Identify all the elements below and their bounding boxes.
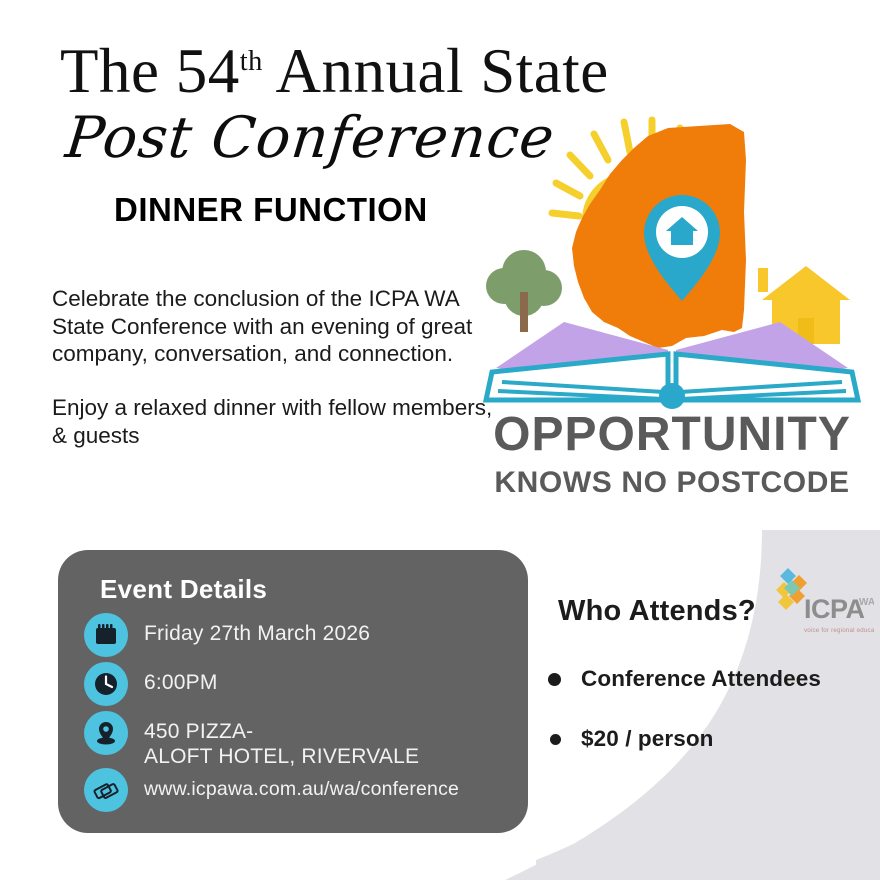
headline-block: The 54th Annual State Post Conference DI… (60, 38, 609, 229)
icpa-tagline: voice for regional education (804, 627, 874, 634)
bullet-icon (550, 734, 561, 745)
event-detail-row-link[interactable]: www.icpawa.com.au/wa/conference (84, 768, 502, 814)
who-attends-label-1: $20 / person (581, 726, 714, 752)
hero-tagline-line2: KNOWS NO POSTCODE (494, 466, 849, 499)
clock-icon (84, 662, 128, 706)
location-pin-icon (84, 711, 128, 755)
event-details-title: Event Details (100, 574, 502, 605)
who-attends-item-1: $20 / person (548, 726, 858, 752)
event-detail-row-date: Friday 27th March 2026 (84, 613, 502, 659)
who-attends-item-0: Conference Attendees (548, 666, 858, 692)
event-detail-row-location: 450 PIZZA- ALOFT HOTEL, RIVERVALE (84, 711, 502, 768)
title-line-dinner-function: DINNER FUNCTION (114, 191, 609, 229)
tickets-icon (84, 768, 128, 812)
title-ordinal-suffix: th (240, 46, 263, 77)
bullet-icon (548, 673, 561, 686)
title-prefix: The 54 (60, 36, 240, 106)
body-paragraph-2: Enjoy a relaxed dinner with fellow membe… (52, 394, 504, 449)
poster-canvas: The 54th Annual State Post Conference DI… (0, 0, 880, 880)
title-suffix: Annual State (263, 36, 609, 106)
event-detail-location-line1: 450 PIZZA- (144, 720, 253, 743)
icpa-pinwheel-icon (776, 568, 807, 610)
event-detail-time-text: 6:00PM (144, 662, 218, 695)
event-details-card: Event Details Friday 27th (58, 550, 528, 833)
event-detail-row-time: 6:00PM (84, 662, 502, 708)
event-detail-date-text: Friday 27th March 2026 (144, 613, 370, 646)
hero-tagline-line1: OPPORTUNITY (493, 408, 851, 461)
icpa-wordmark: ICPA (804, 594, 865, 624)
title-line-annual-state: The 54th Annual State (60, 38, 609, 104)
icpa-logo: ICPA WA voice for regional education (766, 566, 874, 644)
event-detail-link-text[interactable]: www.icpawa.com.au/wa/conference (144, 768, 459, 801)
title-line-post-conference: Post Conference (63, 110, 612, 167)
icpa-superscript-wa: WA (859, 597, 874, 608)
event-detail-location-text: 450 PIZZA- ALOFT HOTEL, RIVERVALE (144, 711, 419, 768)
body-paragraph-1: Celebrate the conclusion of the ICPA WA … (52, 285, 504, 368)
body-copy-block: Celebrate the conclusion of the ICPA WA … (52, 285, 504, 449)
event-detail-location-line2: ALOFT HOTEL, RIVERVALE (144, 745, 419, 769)
calendar-icon (84, 613, 128, 657)
event-details-rows: Friday 27th March 2026 6:00PM (84, 613, 502, 814)
who-attends-label-0: Conference Attendees (581, 666, 821, 692)
